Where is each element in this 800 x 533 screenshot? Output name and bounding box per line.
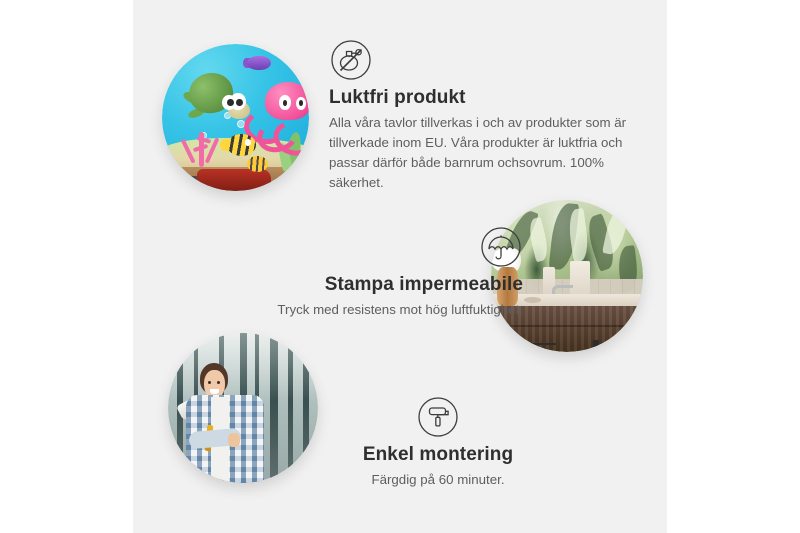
feature-waterproof: Stampa impermeabile Tryck med resistens …: [193, 225, 523, 320]
feature-body: Färgdig på 60 minuter.: [293, 470, 583, 490]
screenshot-root: Luktfri produkt Alla våra tavlor tillver…: [0, 0, 800, 533]
no-odour-spray-bottle-icon: [329, 38, 373, 82]
paint-roller-icon: [416, 395, 460, 439]
feature-heading: Enkel montering: [293, 444, 583, 466]
feature-body: Alla våra tavlor tillverkas i och av pro…: [329, 113, 629, 194]
feature-odourless: Luktfri produkt Alla våra tavlor tillver…: [329, 38, 629, 194]
feature-heading: Luktfri produkt: [329, 87, 629, 109]
feature-body: Tryck med resistens mot hög luftfuktighe…: [193, 300, 523, 320]
content-panel: Luktfri produkt Alla våra tavlor tillver…: [133, 0, 667, 533]
feature-heading: Stampa impermeabile: [193, 274, 523, 296]
umbrella-icon: [479, 225, 523, 269]
feature-easy-mounting: Enkel montering Färgdig på 60 minuter.: [293, 395, 583, 490]
product-photo-underwater: [162, 44, 309, 191]
